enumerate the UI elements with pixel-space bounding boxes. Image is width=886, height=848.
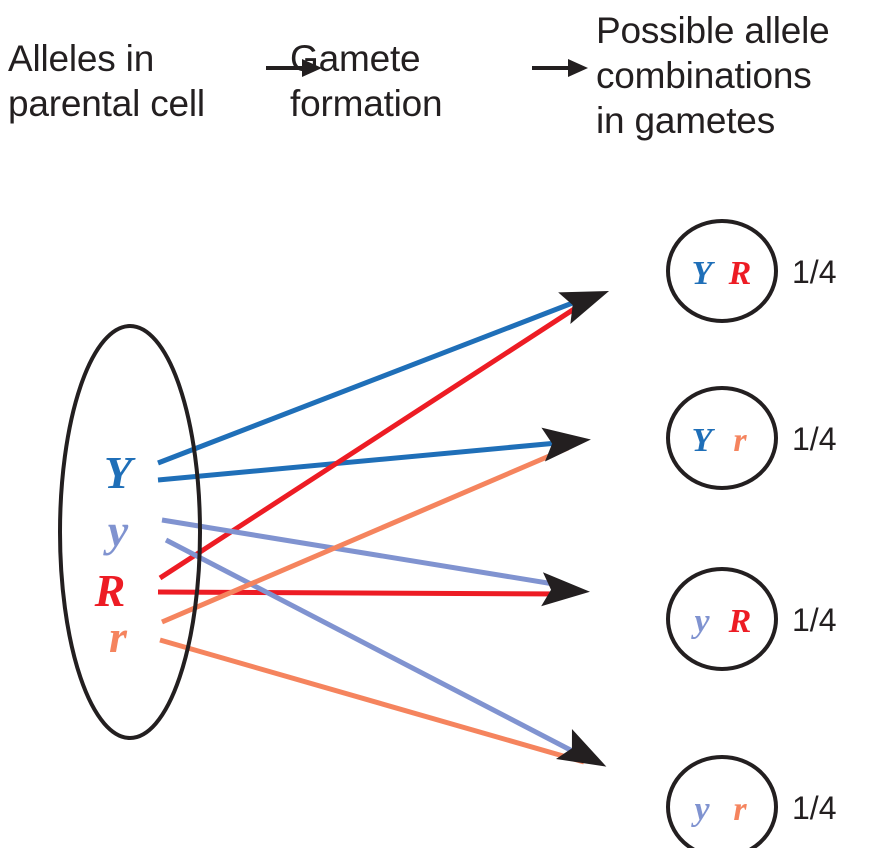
gamete-YR-allele-2: R <box>728 255 752 292</box>
gamete-yR: yR1/4 <box>668 569 836 669</box>
connector-r-to-gamete-yr <box>160 640 584 762</box>
gamete-YR: YR1/4 <box>668 221 836 321</box>
parental-allele-R: R <box>94 565 126 616</box>
connector-lines <box>158 297 588 762</box>
gamete-formation-diagram: Alleles in parental cell Gamete formatio… <box>0 0 886 848</box>
gamete-yr-circle <box>668 757 776 848</box>
connector-R-to-gamete-yR <box>158 592 566 594</box>
connector-y-to-gamete-yR <box>162 520 566 586</box>
arrowhead-to-yr <box>556 729 614 782</box>
gamete-yr-probability: 1/4 <box>792 790 836 826</box>
gamete-Yr-allele-2: r <box>733 422 747 459</box>
gamete-Yr: Yr1/4 <box>668 388 836 488</box>
parental-cell-alleles: YyRr <box>94 447 136 662</box>
gamete-yr-allele-2: r <box>733 791 747 828</box>
parental-cell-oval <box>60 326 200 738</box>
diagram-canvas: YyRr YR1/4Yr1/4yR1/4yr1/4 <box>0 0 886 848</box>
gamete-yr: yr1/4 <box>668 757 836 848</box>
parental-allele-y: y <box>103 505 129 556</box>
gamete-YR-allele-1: Y <box>692 255 716 292</box>
gamete-YR-probability: 1/4 <box>792 254 836 290</box>
gamete-yR-allele-2: R <box>728 603 752 640</box>
gamete-Yr-allele-1: Y <box>692 422 716 459</box>
gamete-Yr-circle <box>668 388 776 488</box>
gamete-yR-probability: 1/4 <box>792 602 836 638</box>
gamete-yR-circle <box>668 569 776 669</box>
connector-y-to-gamete-yr <box>166 540 582 756</box>
arrowhead-to-yR <box>541 572 591 608</box>
gamete-YR-circle <box>668 221 776 321</box>
arrowheads <box>541 275 615 781</box>
gamete-circles: YR1/4Yr1/4yR1/4yr1/4 <box>668 221 836 848</box>
parental-allele-Y: Y <box>104 447 136 498</box>
parental-allele-r: r <box>109 611 128 662</box>
gamete-Yr-probability: 1/4 <box>792 421 836 457</box>
